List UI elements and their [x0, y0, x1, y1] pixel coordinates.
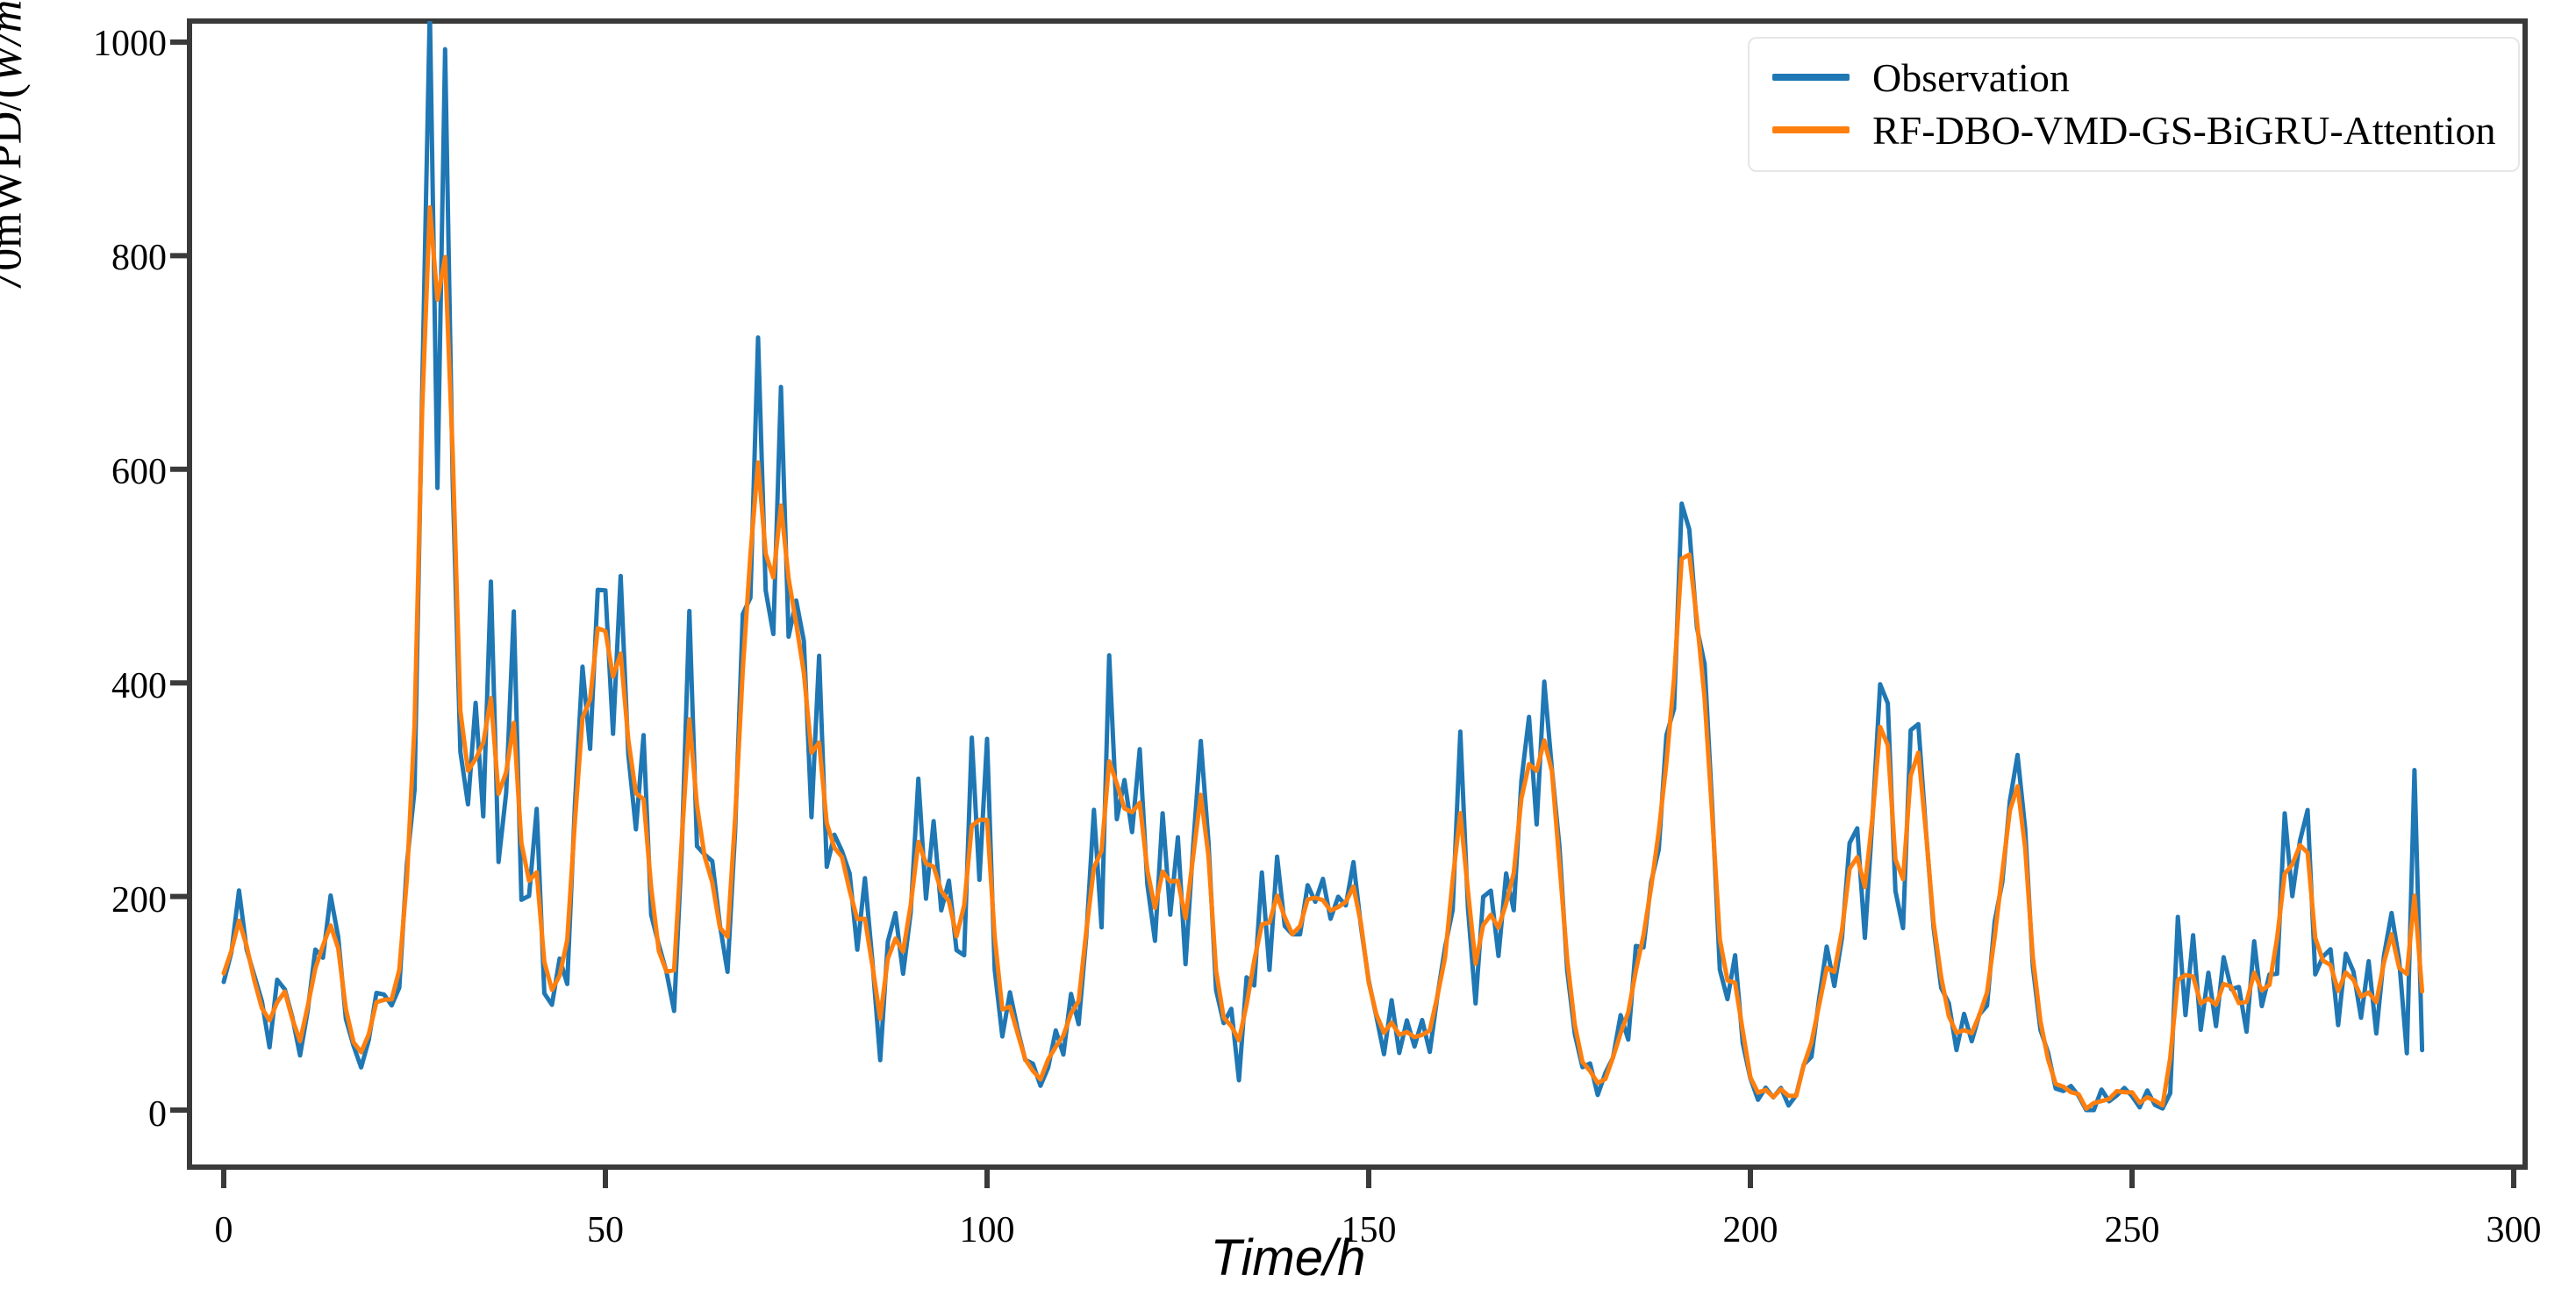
legend-label-prediction: RF-DBO-VMD-GS-BiGRU-Attention	[1872, 107, 2495, 154]
series-lines	[190, 21, 2525, 1167]
legend-item-observation: Observation	[1772, 51, 2495, 104]
plot-area	[190, 21, 2525, 1167]
legend: Observation RF-DBO-VMD-GS-BiGRU-Attentio…	[1748, 37, 2520, 172]
legend-swatch-prediction	[1772, 126, 1850, 133]
prediction-line	[224, 207, 2422, 1108]
legend-swatch-observation	[1772, 74, 1850, 81]
chart-figure: 1000 800 600 400 200 0 0 50 100 150 200 …	[0, 0, 2576, 1304]
legend-label-observation: Observation	[1872, 54, 2070, 101]
observation-line	[224, 21, 2422, 1110]
legend-item-prediction: RF-DBO-VMD-GS-BiGRU-Attention	[1772, 104, 2495, 156]
